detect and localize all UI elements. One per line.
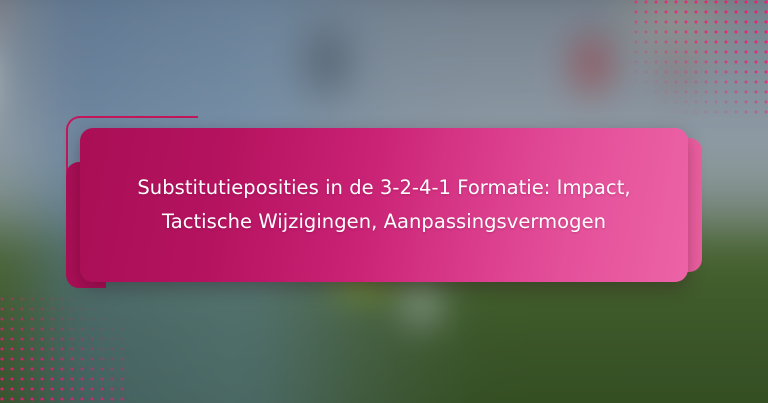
page-title: Substitutieposities in de 3-2-4-1 Format… [80,171,688,238]
title-banner: Substitutieposities in de 3-2-4-1 Format… [66,116,702,288]
banner-screenshot: Substitutieposities in de 3-2-4-1 Format… [0,0,768,403]
banner-card: Substitutieposities in de 3-2-4-1 Format… [80,128,688,282]
